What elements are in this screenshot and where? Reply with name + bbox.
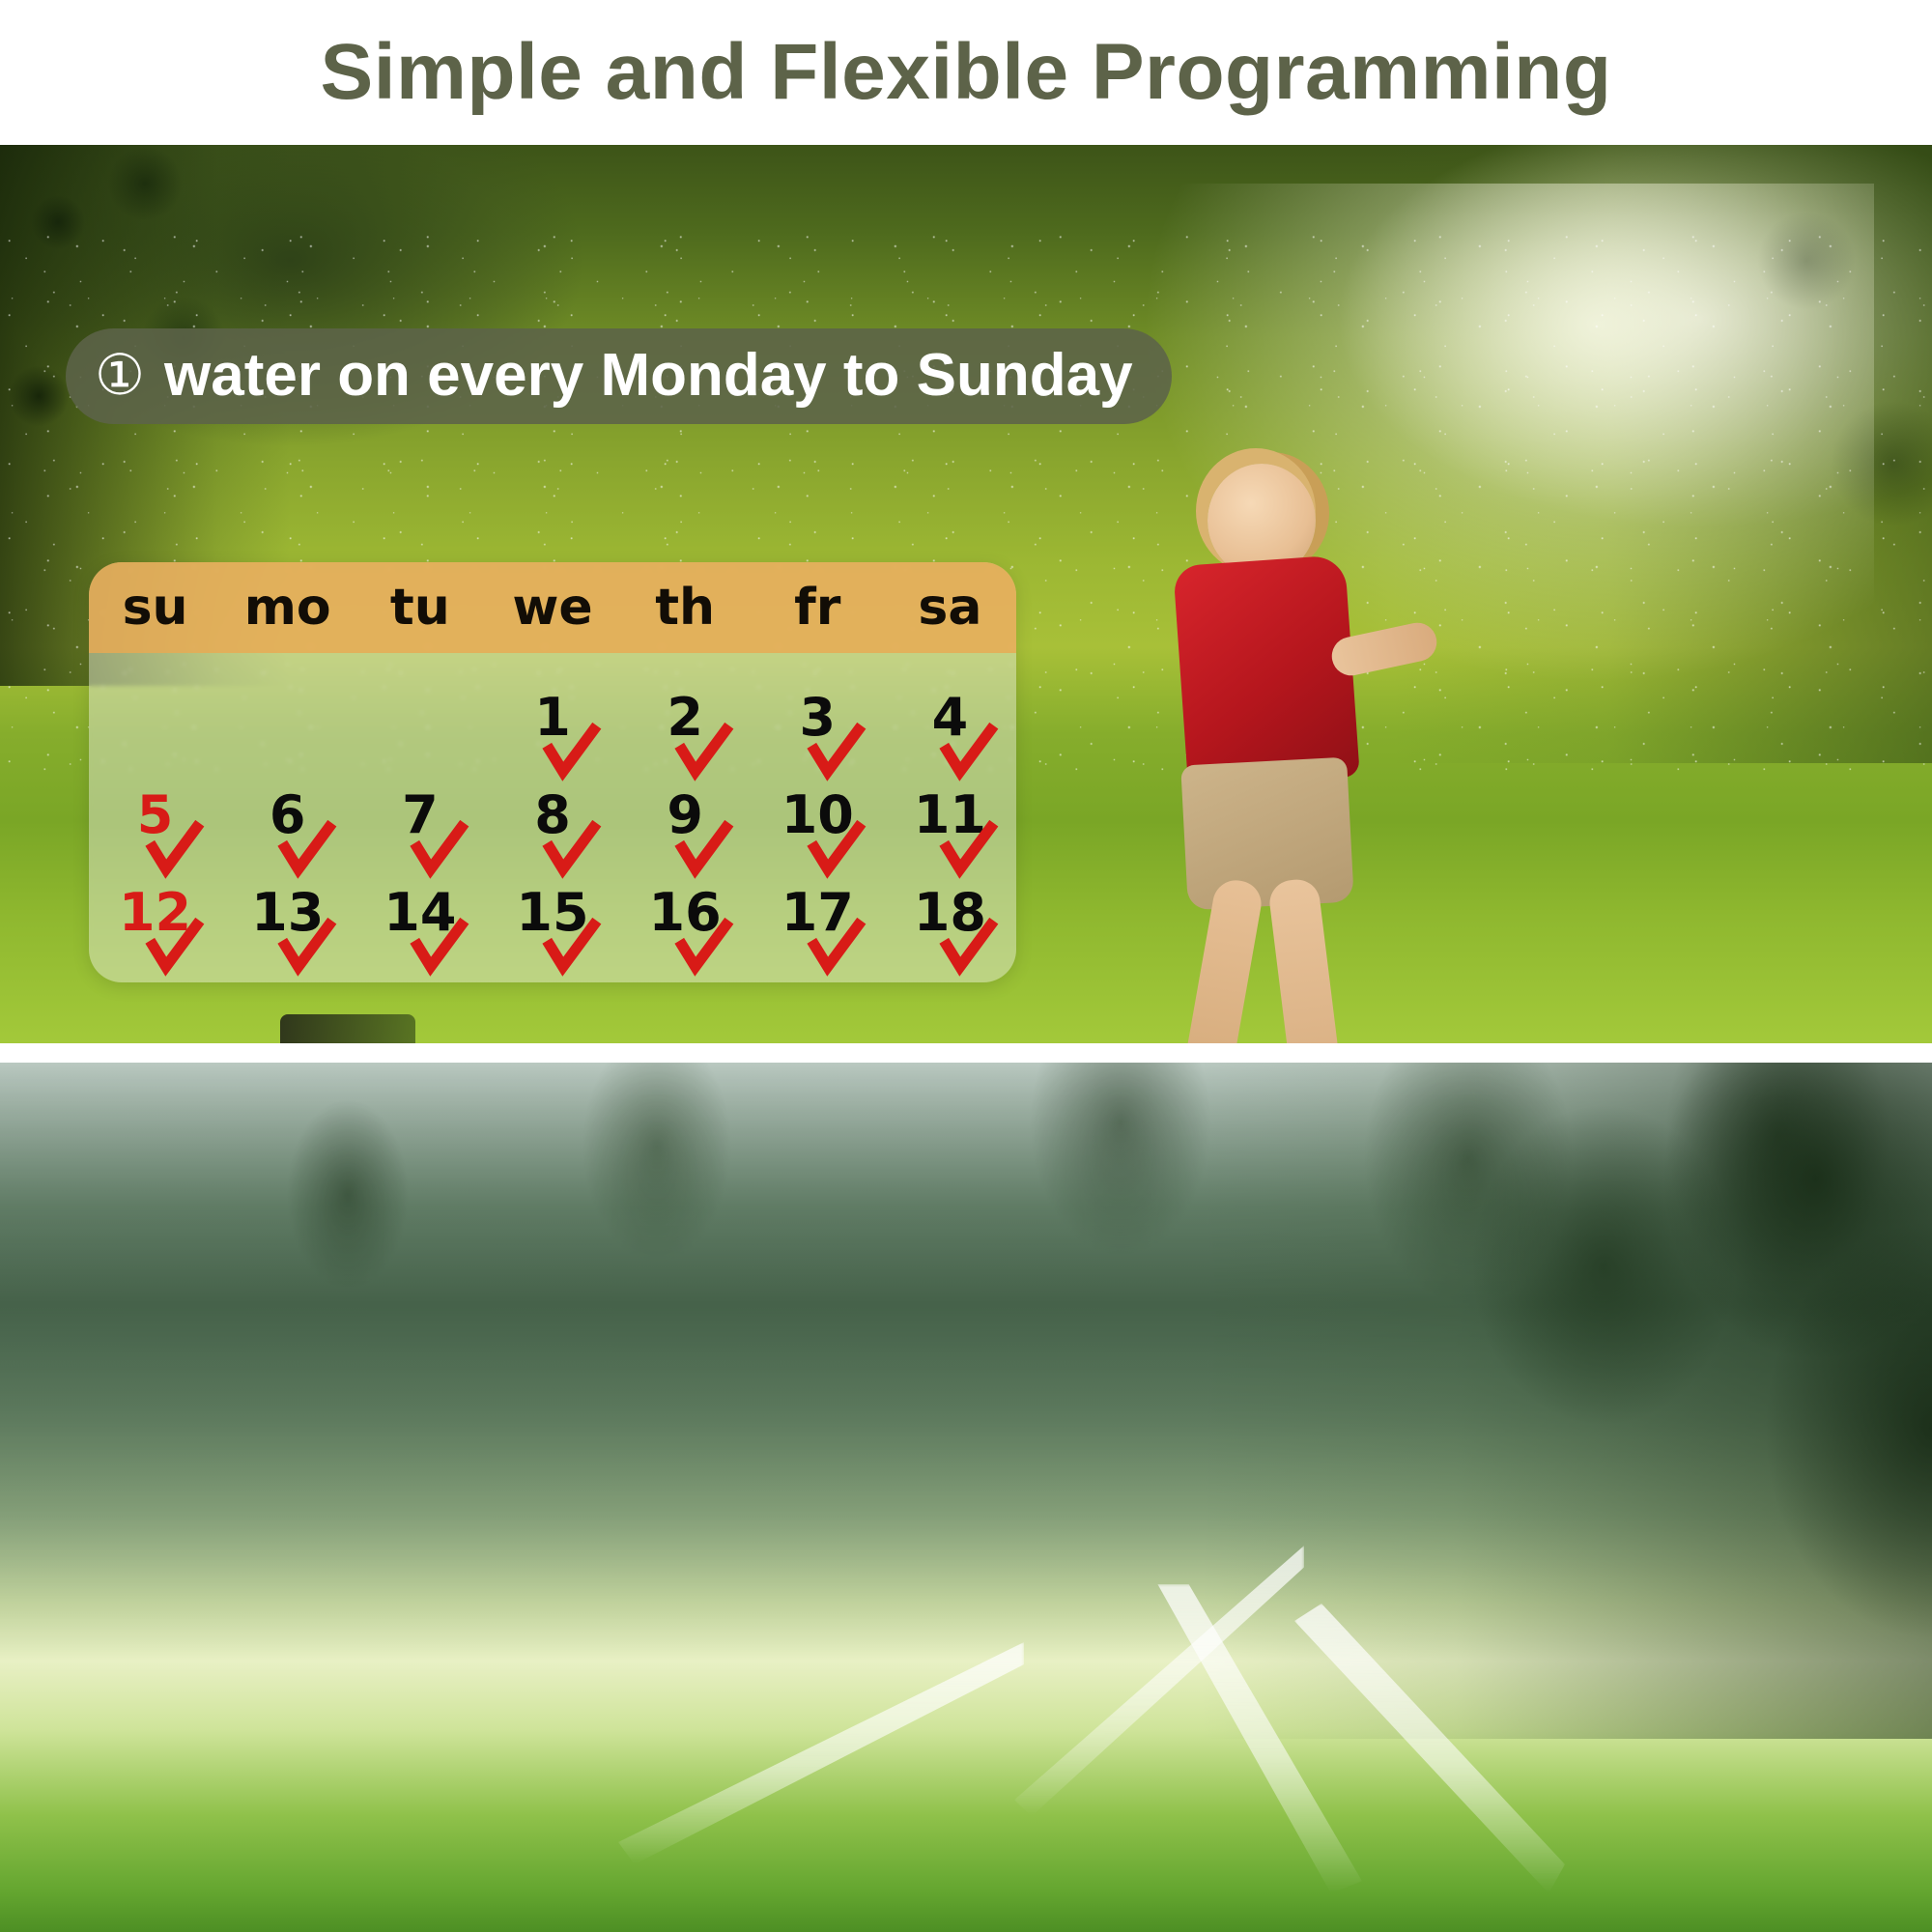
child-shorts — [1180, 757, 1354, 911]
calendar-day-cell[interactable]: 10 — [752, 766, 884, 864]
calendar-day-number: 16 — [649, 882, 722, 943]
weekday-header-tu: tu — [354, 579, 486, 637]
calendar-day-cell[interactable]: 13 — [221, 864, 354, 961]
sprinkler-jet — [618, 1642, 1024, 1864]
calendar-day-number: 2 — [667, 687, 703, 748]
calendar-weekly: sumotuwethfrsa 1234567891011121314151617… — [89, 562, 1016, 982]
calendar-day-grid[interactable]: 123456789101112131415161718 — [89, 653, 1016, 982]
weekday-header-th: th — [619, 579, 752, 637]
page-title-bar: Simple and Flexible Programming — [0, 0, 1932, 145]
calendar-day-cell[interactable]: 6 — [221, 766, 354, 864]
calendar-day-number: 18 — [914, 882, 986, 943]
calendar-day-cell[interactable]: 1 — [486, 668, 618, 766]
calendar-day-cell[interactable]: 14 — [354, 864, 486, 961]
weekday-header-mo: mo — [221, 579, 354, 637]
calendar-day-number: 4 — [932, 687, 969, 748]
calendar-day-number: 7 — [402, 784, 439, 845]
calendar-day-number: 8 — [534, 784, 571, 845]
weekday-header-we: we — [486, 579, 618, 637]
calendar-day-number: 3 — [799, 687, 836, 748]
calendar-day-cell[interactable]: 9 — [619, 766, 752, 864]
calendar-day-number: 13 — [251, 882, 324, 943]
calendar-day-cell[interactable]: 4 — [884, 668, 1016, 766]
calendar-day-number: 10 — [781, 784, 854, 845]
weekday-header-sa: sa — [884, 579, 1016, 637]
calendar-day-cell[interactable]: 5 — [89, 766, 221, 864]
section-one-panel: ① water on every Monday to Sunday sumotu… — [0, 145, 1932, 1043]
calendar-day-number: 14 — [384, 882, 456, 943]
calendar-day-cell[interactable]: 17 — [752, 864, 884, 961]
calendar-cell-empty — [354, 668, 486, 766]
calendar-cell-empty — [89, 668, 221, 766]
section-divider — [0, 1043, 1932, 1063]
calendar-day-number: 9 — [667, 784, 703, 845]
golf-course-sprinkler-photo — [0, 1063, 1932, 1932]
weekday-header-su: su — [89, 579, 221, 637]
child-leg-left — [1176, 877, 1265, 1043]
weekday-header-fr: fr — [752, 579, 884, 637]
calendar-cell-empty — [221, 668, 354, 766]
calendar-day-cell[interactable]: 18 — [884, 864, 1016, 961]
calendar-day-cell[interactable]: 15 — [486, 864, 618, 961]
calendar-day-cell[interactable]: 8 — [486, 766, 618, 864]
right-palm-canopy — [1198, 1063, 1932, 1739]
calendar-day-cell[interactable]: 7 — [354, 766, 486, 864]
child-figure — [1092, 464, 1420, 1043]
calendar-day-number: 11 — [914, 784, 986, 845]
calendar-day-number: 1 — [534, 687, 571, 748]
calendar-day-cell[interactable]: 3 — [752, 668, 884, 766]
calendar-day-cell[interactable]: 12 — [89, 864, 221, 961]
calendar-day-number: 5 — [137, 784, 174, 845]
ground-sprinkler-head — [280, 1014, 415, 1043]
section-two-panel: ② Water on every 2/3/4/5/6 days ③ Water … — [0, 1063, 1932, 1932]
section-one-banner: ① water on every Monday to Sunday — [66, 328, 1172, 424]
circled-number-icon: ① — [95, 348, 145, 404]
calendar-day-number: 12 — [119, 882, 191, 943]
child-red-shirt — [1173, 554, 1360, 788]
banner-label: water on every Monday to Sunday — [164, 342, 1133, 409]
calendar-weekday-header: sumotuwethfrsa — [89, 562, 1016, 653]
calendar-day-cell[interactable]: 2 — [619, 668, 752, 766]
calendar-day-cell[interactable]: 11 — [884, 766, 1016, 864]
banner-line: ① water on every Monday to Sunday — [95, 342, 1133, 409]
page-title: Simple and Flexible Programming — [321, 27, 1612, 118]
calendar-day-number: 6 — [270, 784, 306, 845]
calendar-day-number: 17 — [781, 882, 854, 943]
calendar-day-number: 15 — [516, 882, 588, 943]
calendar-day-cell[interactable]: 16 — [619, 864, 752, 961]
